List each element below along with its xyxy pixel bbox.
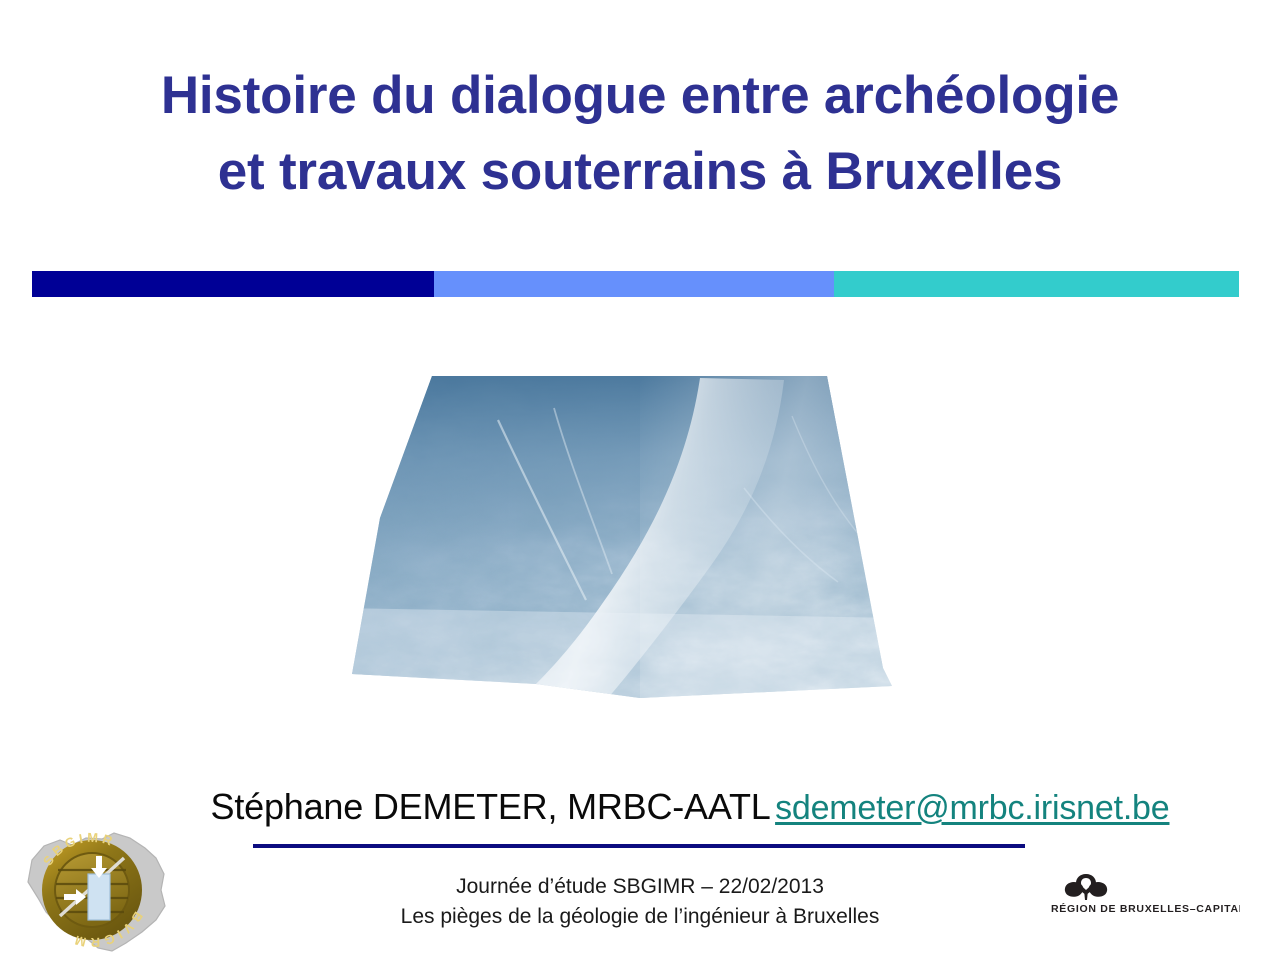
- title-line-1: Histoire du dialogue entre archéologie: [60, 58, 1220, 134]
- brussels-logo-svg: RÉGION DE BRUXELLES–CAPITALE: [1034, 868, 1240, 920]
- sbgimr-logo: SBGIMR BVIGRM: [14, 812, 174, 958]
- terrain-surface: [340, 368, 900, 720]
- color-bar-segment-blue: [434, 271, 834, 297]
- logo-sample-column: [88, 874, 110, 920]
- color-bar-segment-navy: [32, 271, 434, 297]
- terrain-svg: [340, 368, 900, 720]
- author-name: Stéphane DEMETER, MRBC-AATL: [211, 786, 771, 827]
- footer-text: Journée d’étude SBGIMR – 22/02/2013 Les …: [240, 872, 1040, 932]
- terrain-elevation-figure: [340, 368, 900, 720]
- page-title: Histoire du dialogue entre archéologie e…: [60, 58, 1220, 210]
- sbgimr-logo-svg: SBGIMR BVIGRM: [14, 812, 174, 958]
- title-line-2: et travaux souterrains à Bruxelles: [60, 134, 1220, 210]
- brussels-capital-region-logo: RÉGION DE BRUXELLES–CAPITALE: [1034, 868, 1240, 920]
- footer-line-1: Journée d’étude SBGIMR – 22/02/2013: [240, 872, 1040, 902]
- author-underline-rule: [253, 844, 1025, 848]
- author-line: Stéphane DEMETER, MRBC-AATL sdemeter@mrb…: [190, 786, 1190, 828]
- decorative-color-bar: [32, 271, 1239, 297]
- brussels-logo-text: RÉGION DE BRUXELLES–CAPITALE: [1051, 902, 1240, 915]
- iris-heart-icon: [1065, 874, 1107, 900]
- color-bar-segment-teal: [834, 271, 1239, 297]
- author-email-link[interactable]: sdemeter@mrbc.irisnet.be: [775, 789, 1169, 827]
- footer-line-2: Les pièges de la géologie de l’ingénieur…: [240, 902, 1040, 932]
